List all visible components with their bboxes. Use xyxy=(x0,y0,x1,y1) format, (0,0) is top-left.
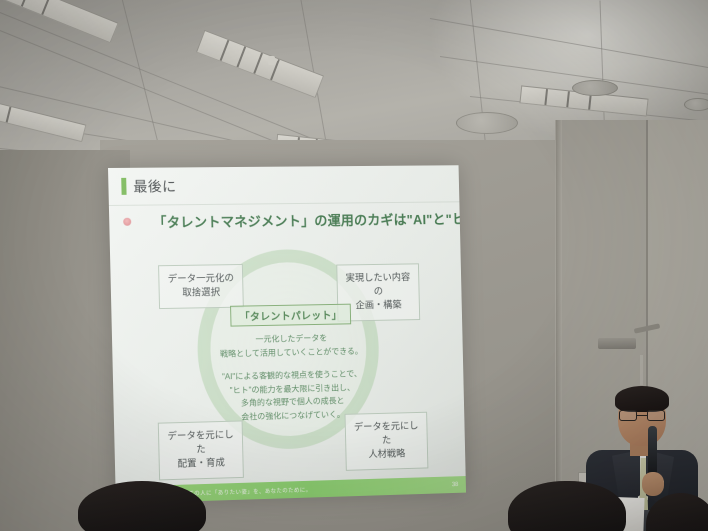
microphone-icon xyxy=(648,426,657,478)
center-paragraph-2: "AI"による客観的な視点を使うことで、 "ヒト"の能力を最大限に引き出し、 多… xyxy=(208,367,377,424)
node-line-1: データを元にした xyxy=(167,430,233,456)
presenter-hair xyxy=(615,386,669,412)
diagram-center: 「タレントパレット」 一元化したデータを 戦略として活用していくことができる。 … xyxy=(206,303,376,424)
slide-header: 最後に xyxy=(108,165,459,206)
door-closer-icon xyxy=(598,338,636,349)
door-rod xyxy=(640,355,643,385)
node-line-1: データ一元化の xyxy=(168,273,234,285)
node-line-2: 配置・育成 xyxy=(166,456,237,472)
flower-bullet-icon xyxy=(123,218,131,226)
center-paragraph-1: 一元化したデータを 戦略として活用していくことができる。 xyxy=(207,331,375,361)
glasses-icon xyxy=(619,410,665,421)
diagram-node-top-left: データ一元化の 取捨選択 xyxy=(158,264,244,309)
slide-heading: 「タレントマネジメント」の運用のカギは"AI"と"ヒト" xyxy=(153,208,466,232)
air-vent-icon xyxy=(572,80,618,96)
slide-title: 最後に xyxy=(133,176,177,196)
center-badge: 「タレントパレット」 xyxy=(230,304,352,327)
node-line-1: データを元にした xyxy=(354,421,419,446)
diagram-node-bottom-left: データを元にした 配置・育成 xyxy=(158,420,244,480)
header-accent-bar xyxy=(121,178,126,195)
air-vent-icon xyxy=(456,112,518,134)
node-line-2: 取捨選択 xyxy=(166,286,237,301)
node-line-1: 実現したい内容の xyxy=(346,272,411,297)
slide-heading-row: 「タレントマネジメント」の運用のカギは"AI"と"ヒト" xyxy=(109,208,460,232)
projected-slide: 最後に 「タレントマネジメント」の運用のカギは"AI"と"ヒト" データ一元化の… xyxy=(108,165,466,503)
slide-page-number: 38 xyxy=(452,482,458,488)
presenter-hand xyxy=(642,472,664,496)
sprinkler-icon xyxy=(268,56,275,65)
node-line-2: 人材戦略 xyxy=(352,447,421,463)
conference-room-scene: 最後に 「タレントマネジメント」の運用のカギは"AI"と"ヒト" データ一元化の… xyxy=(0,0,708,531)
air-vent-icon xyxy=(684,98,708,111)
ceiling-light-fixture xyxy=(196,30,324,98)
center-p1-line-2: 戦略として活用していくことができる。 xyxy=(207,344,375,361)
